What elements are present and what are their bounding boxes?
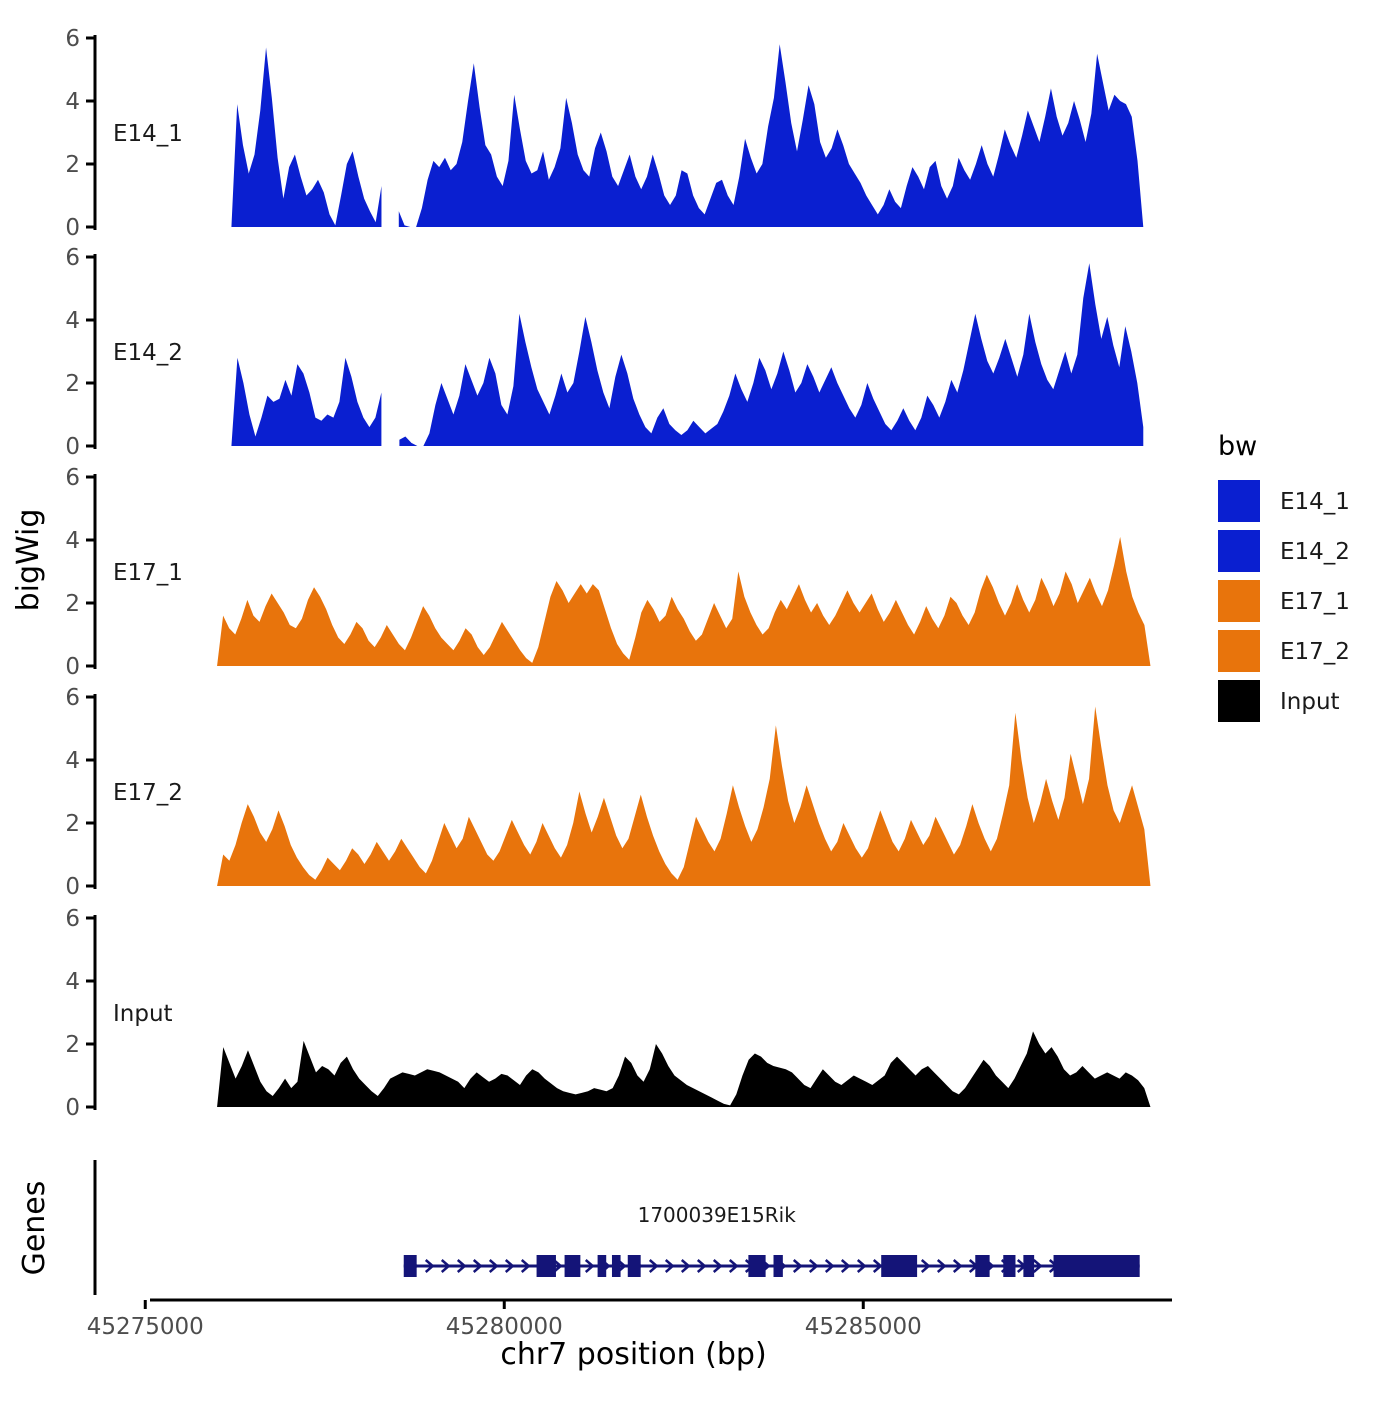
y-tick-label: 0 <box>65 1095 80 1121</box>
legend-label-e17_2: E17_2 <box>1280 639 1350 665</box>
gene-exon <box>1023 1255 1034 1277</box>
gene-exon <box>537 1255 556 1277</box>
track-panel-e17_2: 0246E17_2 <box>65 685 1150 900</box>
panel-label-e14_2: E14_2 <box>113 340 183 366</box>
y-tick-label: 6 <box>65 26 80 52</box>
gene-exon <box>774 1255 783 1277</box>
legend-swatch-e17_2[interactable] <box>1218 630 1260 672</box>
gene-exon <box>404 1255 417 1277</box>
legend-swatch-e14_1[interactable] <box>1218 480 1260 522</box>
gene-exon <box>1003 1255 1015 1277</box>
gene-exon <box>565 1255 581 1277</box>
coverage-area-e14_1 <box>399 44 1143 227</box>
y-tick-label: 2 <box>65 152 80 178</box>
y-tick-label: 2 <box>65 1032 80 1058</box>
y-tick-label: 4 <box>65 528 80 554</box>
coverage-area-input <box>217 1031 1150 1107</box>
legend-label-e17_1: E17_1 <box>1280 589 1350 615</box>
y-tick-label: 0 <box>65 654 80 680</box>
panel-label-e14_1: E14_1 <box>113 121 183 147</box>
legend-label-input: Input <box>1280 689 1340 715</box>
panel-label-e17_1: E17_1 <box>113 560 183 586</box>
figure-root: 0246E14_10246E14_20246E17_10246E17_20246… <box>0 0 1400 1400</box>
coverage-area-e14_2 <box>231 358 381 446</box>
genes-axis-title: Genes <box>17 1181 52 1276</box>
track-panel-input: 0246Input <box>65 906 1150 1121</box>
gene-exon <box>748 1255 765 1277</box>
genes-panel: 1700039E15Rik <box>95 1160 1140 1295</box>
legend-title: bw <box>1218 431 1257 462</box>
coverage-area-e14_2 <box>399 263 1143 446</box>
gene-exon <box>612 1255 621 1277</box>
gene-name-label: 1700039E15Rik <box>638 1203 797 1227</box>
y-tick-label: 2 <box>65 811 80 837</box>
y-tick-label: 6 <box>65 906 80 932</box>
genome-browser-figure: 0246E14_10246E14_20246E17_10246E17_20246… <box>0 0 1400 1400</box>
coverage-area-e17_1 <box>217 537 1150 666</box>
legend-label-e14_2: E14_2 <box>1280 539 1350 565</box>
y-tick-label: 0 <box>65 874 80 900</box>
y-tick-label: 4 <box>65 969 80 995</box>
coverage-area-e14_1 <box>231 47 381 227</box>
gene-exon <box>975 1255 989 1277</box>
y-tick-label: 6 <box>65 245 80 271</box>
y-axis-title: bigWig <box>11 509 46 612</box>
panel-label-e17_2: E17_2 <box>113 780 183 806</box>
legend-swatch-e14_2[interactable] <box>1218 530 1260 572</box>
panel-label-input: Input <box>113 1001 173 1027</box>
legend-swatch-input[interactable] <box>1218 680 1260 722</box>
gene-exon <box>628 1255 641 1277</box>
legend-label-e14_1: E14_1 <box>1280 489 1350 515</box>
y-tick-label: 0 <box>65 215 80 241</box>
y-tick-label: 2 <box>65 591 80 617</box>
y-tick-label: 4 <box>65 89 80 115</box>
gene-exon <box>1054 1255 1140 1277</box>
x-tick-label: 45285000 <box>805 1314 922 1340</box>
y-tick-label: 4 <box>65 308 80 334</box>
y-tick-label: 6 <box>65 685 80 711</box>
y-tick-label: 4 <box>65 748 80 774</box>
track-panel-e14_1: 0246E14_1 <box>65 26 1143 241</box>
gene-exon <box>598 1255 607 1277</box>
y-tick-label: 2 <box>65 371 80 397</box>
x-tick-label: 45275000 <box>87 1314 204 1340</box>
track-panel-e14_2: 0246E14_2 <box>65 245 1143 460</box>
y-tick-label: 6 <box>65 465 80 491</box>
coverage-area-e17_2 <box>217 706 1150 886</box>
x-axis-title: chr7 position (bp) <box>500 1337 766 1372</box>
y-tick-label: 0 <box>65 434 80 460</box>
track-panel-e17_1: 0246E17_1 <box>65 465 1150 680</box>
legend-swatch-e17_1[interactable] <box>1218 580 1260 622</box>
gene-exon <box>881 1255 917 1277</box>
